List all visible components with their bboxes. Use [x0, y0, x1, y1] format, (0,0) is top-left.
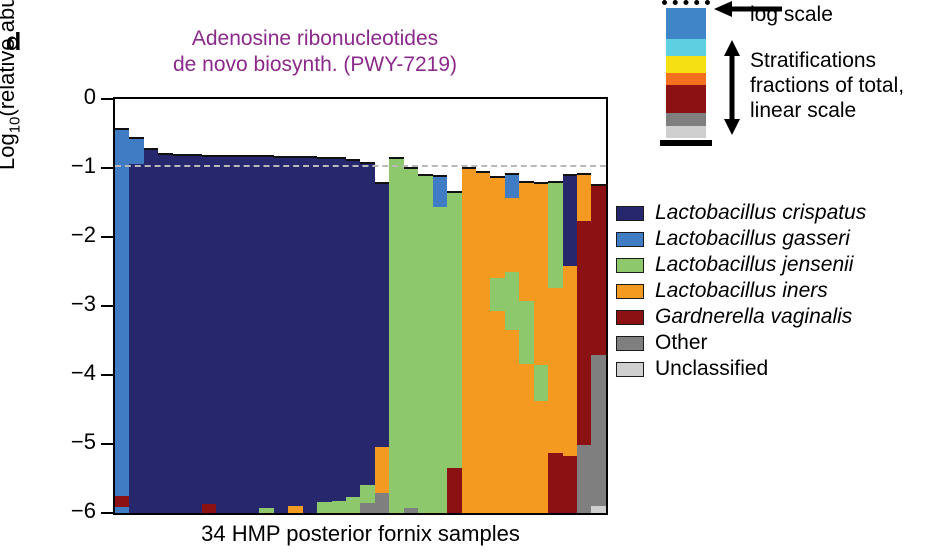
bar-top-outline	[202, 155, 216, 157]
sample-bar	[505, 99, 519, 513]
bar-segment	[375, 447, 389, 494]
bar-segment	[216, 156, 230, 514]
sample-bar	[360, 99, 374, 513]
bar-segment	[490, 278, 504, 312]
sample-bar	[490, 99, 504, 513]
bar-segment	[129, 138, 143, 165]
bar-top-outline	[332, 157, 346, 159]
sample-bar	[115, 99, 129, 513]
bar-segment	[534, 365, 548, 402]
bar-segment	[187, 155, 201, 514]
y-axis-tick	[101, 167, 113, 169]
bar-segment	[144, 149, 158, 514]
bar-top-outline	[158, 153, 172, 155]
y-axis-tick-label: −4	[50, 360, 96, 386]
bar-top-outline	[447, 191, 461, 193]
sample-bar	[202, 99, 216, 513]
bar-segment	[202, 504, 216, 514]
bar-segment	[433, 207, 447, 514]
bar-segment	[548, 288, 562, 454]
y-axis-tick	[101, 512, 113, 514]
bar-segment	[129, 164, 143, 514]
reference-line	[115, 165, 606, 167]
legend-color-swatch	[616, 310, 644, 325]
sample-bar	[231, 99, 245, 513]
sample-bar	[577, 99, 591, 513]
y-axis-tick	[101, 236, 113, 238]
sample-bar	[346, 99, 360, 513]
y-axis-tick	[101, 374, 113, 376]
figure-panel: d Adenosine ribonucleotides de novo bios…	[0, 0, 940, 557]
sample-bar	[173, 99, 187, 513]
legend-item-label: Unclassified	[655, 357, 768, 381]
log-scale-dotted-marker	[662, 0, 710, 5]
bar-segment	[534, 183, 548, 365]
bar-segment	[389, 158, 403, 514]
bar-top-outline	[245, 155, 259, 157]
stratification-legend: log scale Stratifications fractions of t…	[616, 0, 940, 180]
bar-top-outline	[563, 174, 577, 176]
bar-segment	[447, 192, 461, 469]
sample-bar	[447, 99, 461, 513]
bar-segment	[418, 175, 432, 514]
bar-segment	[505, 198, 519, 273]
y-axis-tick-label: −2	[50, 222, 96, 248]
legend-color-swatch	[616, 232, 644, 247]
bar-top-outline	[462, 167, 476, 169]
y-axis-tick-label: −5	[50, 429, 96, 455]
stratification-swatch	[666, 39, 706, 56]
bar-segment	[317, 158, 331, 503]
stratification-baseline	[660, 140, 712, 146]
bar-segment	[548, 453, 562, 513]
sample-bar	[216, 99, 230, 513]
bar-segment	[577, 174, 591, 222]
bar-top-outline	[274, 156, 288, 158]
bar-segment	[173, 155, 187, 514]
bar-top-outline	[476, 171, 490, 173]
stacked-bars	[115, 99, 606, 513]
sample-bar	[389, 99, 403, 513]
bar-segment	[360, 163, 374, 485]
stratification-caption-line-1: Stratifications	[750, 48, 904, 73]
bar-segment	[332, 158, 346, 501]
stratification-schematic-bar	[666, 8, 706, 138]
bar-segment	[591, 185, 605, 356]
bar-top-outline	[129, 137, 143, 139]
bar-segment	[158, 154, 172, 513]
stratification-swatch	[666, 56, 706, 73]
bar-segment	[317, 502, 331, 513]
bar-segment	[476, 172, 490, 513]
legend-item-unclassified[interactable]: Unclassified	[616, 356, 940, 382]
sample-bar	[404, 99, 418, 513]
bar-top-outline	[187, 154, 201, 156]
sample-bar	[462, 99, 476, 513]
y-axis-label-log: Log	[0, 133, 19, 170]
y-axis-tick	[101, 98, 113, 100]
chart-title-line-2: de novo biosynth. (PWY-7219)	[120, 52, 510, 78]
legend-item-label: Lactobacillus gasseri	[655, 227, 850, 251]
y-axis-tick-label: −3	[50, 291, 96, 317]
bar-top-outline	[519, 181, 533, 183]
stratification-swatch	[666, 113, 706, 127]
bar-top-outline	[303, 156, 317, 158]
y-axis-tick-label: −1	[50, 153, 96, 179]
bar-segment	[303, 157, 317, 514]
bar-top-outline	[216, 155, 230, 157]
sample-bar	[563, 99, 577, 513]
sample-bar	[332, 99, 346, 513]
bar-segment	[490, 177, 504, 278]
y-axis-tick	[101, 305, 113, 307]
bar-top-outline	[389, 157, 403, 159]
legend-color-swatch	[616, 336, 644, 351]
bar-top-outline	[433, 175, 447, 177]
y-axis-tick-label: 0	[50, 84, 96, 110]
plot-area	[113, 97, 608, 515]
bar-top-outline	[577, 173, 591, 175]
sample-bar	[144, 99, 158, 513]
bar-segment	[115, 496, 129, 508]
sample-bar	[418, 99, 432, 513]
bar-top-outline	[418, 174, 432, 176]
stratification-caption-line-3: linear scale	[750, 98, 904, 123]
legend-item-label: Lactobacillus iners	[655, 279, 828, 303]
bar-segment	[519, 182, 533, 302]
bar-top-outline	[288, 156, 302, 158]
sample-bar	[519, 99, 533, 513]
sample-bar	[129, 99, 143, 513]
chart-title-line-1: Adenosine ribonucleotides	[120, 26, 510, 52]
bar-top-outline	[548, 181, 562, 183]
sample-bar	[187, 99, 201, 513]
bar-segment	[346, 160, 360, 498]
bar-segment	[245, 156, 259, 513]
bar-segment	[577, 221, 591, 446]
y-axis-tick-label: −6	[50, 498, 96, 524]
y-axis-label-rest: (relative abundance)	[0, 0, 19, 117]
sample-bar	[303, 99, 317, 513]
bar-top-outline	[490, 176, 504, 178]
bar-segment	[447, 468, 461, 514]
stratification-swatch	[666, 126, 706, 138]
legend-item-lactobacillus-jensenii[interactable]: Lactobacillus jensenii	[616, 252, 940, 278]
sample-bar	[259, 99, 273, 513]
bar-segment	[505, 272, 519, 330]
sample-bar	[433, 99, 447, 513]
bar-segment	[360, 485, 374, 503]
bar-segment	[591, 355, 605, 507]
x-axis-label: 34 HMP posterior fornix samples	[113, 521, 608, 547]
legend-item-lactobacillus-gasseri[interactable]: Lactobacillus gasseri	[616, 226, 940, 252]
bar-top-outline	[231, 155, 245, 157]
legend-item-lactobacillus-iners[interactable]: Lactobacillus iners	[616, 278, 940, 304]
stratification-double-arrow-icon	[720, 40, 744, 135]
bar-segment	[563, 456, 577, 514]
bar-segment	[115, 507, 129, 513]
stratification-caption-line-2: fractions of total,	[750, 73, 904, 98]
legend-item-other[interactable]: Other	[616, 330, 940, 356]
bar-top-outline	[534, 182, 548, 184]
bar-segment	[259, 508, 273, 514]
bar-segment	[462, 168, 476, 514]
species-legend: Lactobacillus crispatusLactobacillus gas…	[616, 200, 940, 382]
bar-segment	[360, 503, 374, 514]
bar-segment	[288, 157, 302, 507]
y-axis-tick	[101, 443, 113, 445]
sample-bar	[375, 99, 389, 513]
y-axis-label: Log10(relative abundance)	[0, 0, 23, 170]
bar-segment	[404, 168, 418, 508]
bar-segment	[288, 506, 302, 514]
bar-segment	[577, 445, 591, 513]
bar-segment	[259, 156, 273, 508]
legend-item-label: Other	[655, 331, 708, 355]
bar-segment	[534, 401, 548, 514]
sample-bar	[245, 99, 259, 513]
bar-top-outline	[144, 148, 158, 150]
bar-segment	[563, 175, 577, 267]
bar-segment	[505, 174, 519, 198]
bar-top-outline	[259, 155, 273, 157]
bar-segment	[346, 497, 360, 513]
stratification-swatch	[666, 8, 706, 40]
bar-segment	[548, 182, 562, 289]
bar-segment	[231, 156, 245, 514]
bar-segment	[274, 157, 288, 514]
bar-segment	[375, 493, 389, 513]
sample-bar	[534, 99, 548, 513]
sample-bar	[158, 99, 172, 513]
bar-segment	[375, 183, 389, 447]
legend-item-lactobacillus-crispatus[interactable]: Lactobacillus crispatus	[616, 200, 940, 226]
legend-color-swatch	[616, 206, 644, 221]
bar-top-outline	[404, 167, 418, 169]
y-axis-label-subscript: 10	[6, 117, 23, 134]
bar-top-outline	[591, 184, 605, 186]
legend-color-swatch	[616, 362, 644, 377]
legend-item-label: Lactobacillus jensenii	[655, 253, 853, 277]
legend-item-label: Lactobacillus crispatus	[655, 201, 866, 225]
legend-item-label: Gardnerella vaginalis	[655, 305, 852, 329]
bar-segment	[433, 176, 447, 207]
stratification-caption: Stratifications fractions of total, line…	[750, 48, 904, 123]
stratification-swatch	[666, 73, 706, 85]
bar-segment	[591, 506, 605, 513]
bar-top-outline	[505, 173, 519, 175]
sample-bar	[274, 99, 288, 513]
bar-segment	[563, 266, 577, 456]
bar-top-outline	[317, 157, 331, 159]
bar-segment	[490, 311, 504, 513]
stratification-swatch	[666, 85, 706, 114]
legend-color-swatch	[616, 258, 644, 273]
bar-top-outline	[375, 182, 389, 184]
bar-segment	[115, 129, 129, 496]
legend-item-gardnerella-vaginalis[interactable]: Gardnerella vaginalis	[616, 304, 940, 330]
bar-segment	[404, 508, 418, 514]
bar-segment	[505, 330, 519, 514]
bar-segment	[519, 301, 533, 365]
sample-bar	[591, 99, 605, 513]
log-scale-caption: log scale	[750, 2, 833, 27]
bar-top-outline	[346, 159, 360, 161]
sample-bar	[548, 99, 562, 513]
bar-segment	[332, 501, 346, 514]
legend-color-swatch	[616, 284, 644, 299]
bar-top-outline	[173, 154, 187, 156]
sample-bar	[288, 99, 302, 513]
bar-segment	[519, 364, 533, 514]
sample-bar	[476, 99, 490, 513]
bar-segment	[202, 156, 216, 505]
chart-title: Adenosine ribonucleotides de novo biosyn…	[120, 26, 510, 78]
sample-bar	[317, 99, 331, 513]
bar-top-outline	[115, 128, 129, 130]
